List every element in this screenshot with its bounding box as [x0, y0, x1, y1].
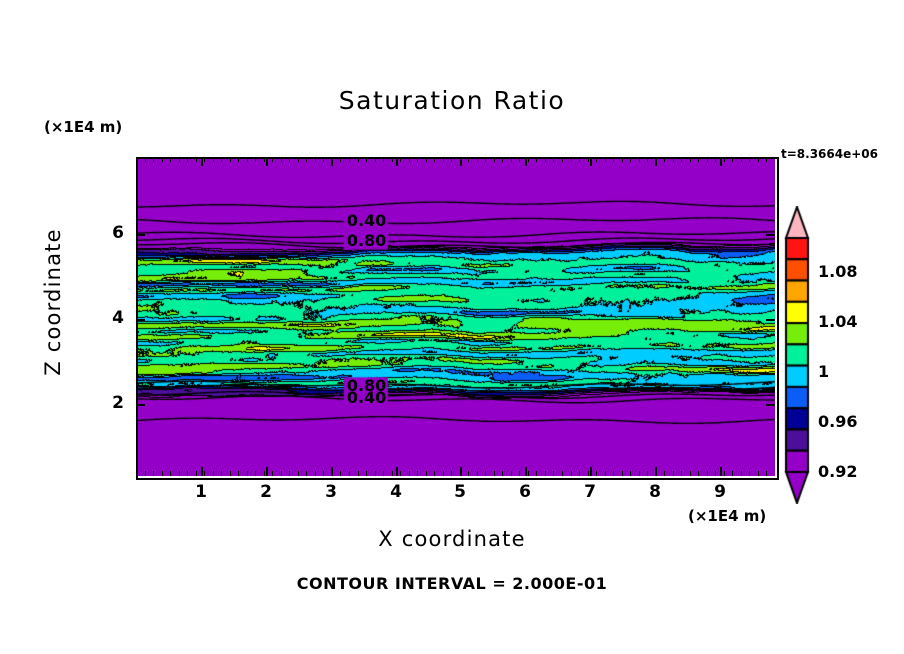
y-tick-mark-right [766, 234, 775, 236]
x-minor-tick [562, 157, 563, 162]
x-tick-mark-top [396, 157, 398, 166]
x-minor-tick [434, 157, 435, 162]
x-axis-unit-label: (×1E4 m) [688, 507, 766, 525]
x-minor-tick [187, 471, 188, 476]
x-minor-tick [409, 471, 410, 476]
x-minor-tick [196, 471, 197, 476]
x-minor-tick [298, 471, 299, 476]
x-minor-tick [179, 157, 180, 162]
x-minor-tick [340, 471, 341, 476]
x-minor-tick [588, 471, 589, 476]
x-minor-tick [741, 157, 742, 162]
x-tick-mark [525, 467, 527, 476]
colorbar-canvas [784, 206, 810, 504]
contour-field-canvas [136, 157, 775, 476]
contour-value-label: 0.40 [347, 211, 386, 230]
x-minor-tick [315, 471, 316, 476]
x-tick-mark-top [720, 157, 722, 166]
x-minor-tick [238, 157, 239, 162]
x-minor-tick [485, 471, 486, 476]
x-minor-tick [255, 471, 256, 476]
page-title: Saturation Ratio [0, 86, 904, 115]
x-minor-tick [690, 157, 691, 162]
x-minor-tick [426, 157, 427, 162]
x-minor-tick [468, 157, 469, 162]
x-minor-tick [545, 471, 546, 476]
x-minor-tick [204, 157, 205, 162]
x-minor-tick [247, 471, 248, 476]
colorbar-tick-label: 0.96 [818, 412, 857, 431]
x-minor-tick [417, 157, 418, 162]
x-minor-tick [451, 157, 452, 162]
x-minor-tick [536, 471, 537, 476]
x-minor-tick [579, 471, 580, 476]
x-minor-tick [758, 471, 759, 476]
y-tick-mark [136, 234, 145, 236]
x-minor-tick [715, 157, 716, 162]
x-minor-tick [315, 157, 316, 162]
y-tick-label: 2 [94, 393, 124, 413]
x-tick-mark [590, 467, 592, 476]
x-minor-tick [145, 157, 146, 162]
x-minor-tick [238, 471, 239, 476]
x-tick-mark-top [201, 157, 203, 166]
x-minor-tick [553, 471, 554, 476]
x-minor-tick [289, 471, 290, 476]
x-minor-tick [221, 157, 222, 162]
x-minor-tick [494, 157, 495, 162]
x-minor-tick [511, 157, 512, 162]
x-tick-label: 7 [570, 482, 610, 502]
x-minor-tick [571, 471, 572, 476]
x-minor-tick [375, 471, 376, 476]
x-minor-tick [605, 157, 606, 162]
x-minor-tick [358, 471, 359, 476]
x-minor-tick [366, 471, 367, 476]
x-minor-tick [289, 157, 290, 162]
x-minor-tick [622, 471, 623, 476]
x-minor-tick [230, 157, 231, 162]
x-minor-tick [519, 157, 520, 162]
x-minor-tick [707, 157, 708, 162]
x-minor-tick [477, 471, 478, 476]
x-minor-tick [213, 157, 214, 162]
x-tick-label: 8 [635, 482, 675, 502]
x-minor-tick [545, 157, 546, 162]
x-minor-tick [605, 471, 606, 476]
x-minor-tick [366, 157, 367, 162]
x-tick-label: 6 [505, 482, 545, 502]
x-minor-tick [162, 471, 163, 476]
x-tick-mark [720, 467, 722, 476]
x-minor-tick [579, 157, 580, 162]
x-tick-label: 9 [700, 482, 740, 502]
x-minor-tick [340, 157, 341, 162]
x-minor-tick [536, 157, 537, 162]
x-minor-tick [519, 471, 520, 476]
x-minor-tick [383, 157, 384, 162]
x-minor-tick [639, 471, 640, 476]
x-minor-tick [502, 471, 503, 476]
contour-value-label: 0.40 [347, 388, 386, 407]
x-minor-tick [272, 471, 273, 476]
x-minor-tick [136, 471, 137, 476]
x-minor-tick [732, 471, 733, 476]
x-minor-tick [698, 471, 699, 476]
x-tick-mark-top [590, 157, 592, 166]
x-tick-label: 3 [311, 482, 351, 502]
colorbar-tick-label: 1 [818, 362, 829, 381]
x-minor-tick [264, 471, 265, 476]
x-tick-label: 1 [181, 482, 221, 502]
x-tick-label: 2 [246, 482, 286, 502]
colorbar-tick-label: 1.08 [818, 262, 857, 281]
x-minor-tick [145, 471, 146, 476]
x-minor-tick [349, 471, 350, 476]
x-minor-tick [375, 157, 376, 162]
x-minor-tick [647, 157, 648, 162]
x-minor-tick [264, 157, 265, 162]
x-minor-tick [170, 157, 171, 162]
y-tick-label: 4 [94, 308, 124, 328]
contour-value-label: 0.80 [347, 231, 386, 250]
x-minor-tick [409, 157, 410, 162]
x-minor-tick [153, 157, 154, 162]
y-tick-mark [136, 319, 145, 321]
x-minor-tick [758, 157, 759, 162]
x-minor-tick [349, 157, 350, 162]
x-minor-tick [485, 157, 486, 162]
x-minor-tick [477, 157, 478, 162]
figure-canvas: Saturation Ratio (×1E4 m) t=8.3664e+06 1… [0, 0, 904, 654]
x-minor-tick [332, 471, 333, 476]
z-axis-unit-label: (×1E4 m) [44, 118, 122, 136]
x-minor-tick [562, 471, 563, 476]
colorbar-tick-label: 1.04 [818, 312, 857, 331]
contour-interval-note: CONTOUR INTERVAL = 2.000E-01 [0, 574, 904, 593]
x-minor-tick [426, 471, 427, 476]
x-minor-tick [732, 157, 733, 162]
x-tick-mark [201, 467, 203, 476]
x-minor-tick [656, 157, 657, 162]
x-minor-tick [162, 157, 163, 162]
x-tick-label: 5 [440, 482, 480, 502]
x-minor-tick [647, 471, 648, 476]
x-minor-tick [664, 157, 665, 162]
x-minor-tick [724, 471, 725, 476]
x-minor-tick [392, 471, 393, 476]
x-minor-tick [434, 471, 435, 476]
x-minor-tick [588, 157, 589, 162]
x-minor-tick [383, 471, 384, 476]
x-minor-tick [656, 471, 657, 476]
x-minor-tick [451, 471, 452, 476]
y-tick-mark [136, 404, 145, 406]
x-minor-tick [622, 157, 623, 162]
x-minor-tick [443, 157, 444, 162]
x-minor-tick [221, 471, 222, 476]
x-minor-tick [298, 157, 299, 162]
x-minor-tick [681, 157, 682, 162]
colorbar [784, 206, 810, 504]
x-tick-mark [396, 467, 398, 476]
y-tick-mark-right [766, 319, 775, 321]
x-minor-tick [749, 471, 750, 476]
x-minor-tick [281, 157, 282, 162]
x-minor-tick [323, 157, 324, 162]
x-minor-tick [596, 471, 597, 476]
x-minor-tick [443, 471, 444, 476]
x-minor-tick [528, 157, 529, 162]
x-minor-tick [673, 157, 674, 162]
x-minor-tick [255, 157, 256, 162]
x-minor-tick [358, 157, 359, 162]
x-axis-title: X coordinate [0, 527, 904, 551]
x-minor-tick [272, 157, 273, 162]
x-minor-tick [417, 471, 418, 476]
x-minor-tick [153, 471, 154, 476]
x-tick-label: 4 [376, 482, 416, 502]
x-minor-tick [613, 471, 614, 476]
x-minor-tick [400, 471, 401, 476]
x-minor-tick [528, 471, 529, 476]
x-minor-tick [741, 471, 742, 476]
x-minor-tick [468, 471, 469, 476]
x-minor-tick [306, 471, 307, 476]
x-minor-tick [323, 471, 324, 476]
x-minor-tick [639, 157, 640, 162]
x-minor-tick [511, 471, 512, 476]
colorbar-tick-label: 0.92 [818, 462, 857, 481]
x-minor-tick [673, 471, 674, 476]
x-minor-tick [613, 157, 614, 162]
y-tick-mark-right [766, 404, 775, 406]
x-minor-tick [707, 471, 708, 476]
x-minor-tick [494, 471, 495, 476]
x-minor-tick [179, 471, 180, 476]
x-minor-tick [400, 157, 401, 162]
x-tick-mark-top [266, 157, 268, 166]
contour-plot-area [136, 157, 775, 476]
x-minor-tick [630, 471, 631, 476]
x-minor-tick [724, 157, 725, 162]
x-minor-tick [664, 471, 665, 476]
x-minor-tick [502, 157, 503, 162]
x-tick-mark [266, 467, 268, 476]
x-minor-tick [766, 157, 767, 162]
x-minor-tick [690, 471, 691, 476]
x-minor-tick [460, 471, 461, 476]
x-minor-tick [596, 157, 597, 162]
x-minor-tick [213, 471, 214, 476]
x-minor-tick [136, 157, 137, 162]
x-minor-tick [196, 157, 197, 162]
x-minor-tick [281, 471, 282, 476]
x-minor-tick [553, 157, 554, 162]
x-minor-tick [332, 157, 333, 162]
x-minor-tick [170, 471, 171, 476]
timestamp-annotation: t=8.3664e+06 [781, 147, 878, 161]
x-minor-tick [698, 157, 699, 162]
x-minor-tick [460, 157, 461, 162]
x-minor-tick [715, 471, 716, 476]
x-minor-tick [204, 471, 205, 476]
x-minor-tick [766, 471, 767, 476]
x-minor-tick [571, 157, 572, 162]
x-minor-tick [681, 471, 682, 476]
x-minor-tick [187, 157, 188, 162]
y-tick-label: 6 [94, 223, 124, 243]
x-minor-tick [630, 157, 631, 162]
x-minor-tick [306, 157, 307, 162]
x-minor-tick [749, 157, 750, 162]
y-axis-title: Z coordinate [41, 212, 65, 392]
x-minor-tick [230, 471, 231, 476]
x-minor-tick [247, 157, 248, 162]
x-minor-tick [392, 157, 393, 162]
x-tick-mark-top [525, 157, 527, 166]
